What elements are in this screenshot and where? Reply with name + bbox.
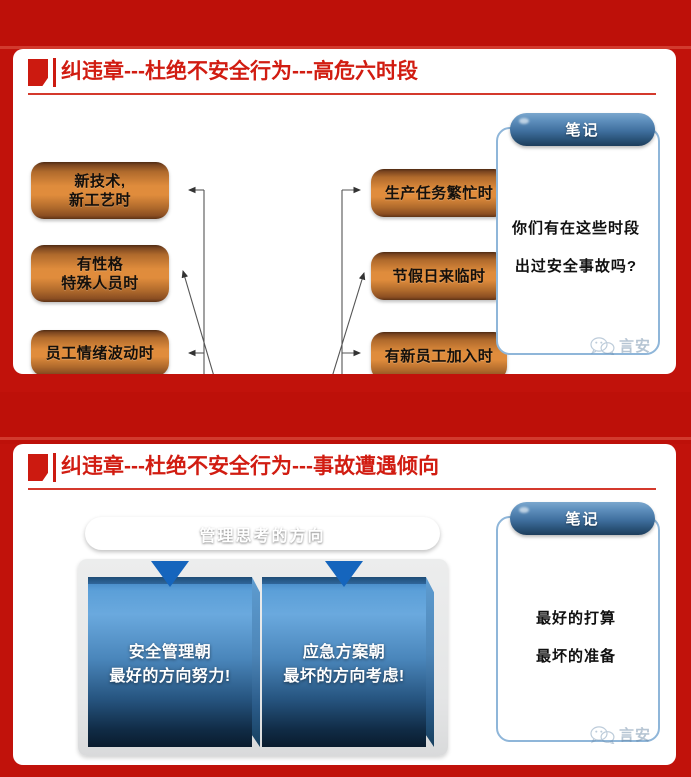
hazard-box-right-2[interactable]: 节假日来临时 [371,252,507,300]
note-tab-one-label: 笔记 [565,119,599,140]
hazard-box-right-3-label: 有新员工加入时 [385,347,494,366]
note-tab-gloss-icon [519,507,529,513]
bottom-red-band [0,765,691,777]
page-title: 纠违章---杜绝不安全行为---高危六时段 [61,56,418,88]
note-tab-two-label: 笔记 [565,508,599,529]
arrow-down-left-icon [151,561,189,587]
direction-panel-left[interactable]: 安全管理朝 最好的方向努力! [88,577,252,747]
slide-two-header: 纠违章---杜绝不安全行为---事故遭遇倾向 [13,444,676,490]
watermark-two-text: 言安 [619,724,651,745]
hazard-box-right-1-label: 生产任务繁忙时 [385,184,494,203]
direction-panel-left-line-1: 安全管理朝 [88,641,252,665]
hazard-box-right-2-label: 节假日来临时 [392,267,485,286]
watermark-two: 言安 [590,724,651,745]
wechat-icon [590,726,616,744]
management-direction-banner[interactable]: 管理思考的方向 [85,517,440,550]
note-body-two: 最好的打算 最坏的准备 [500,600,652,676]
top-red-band [0,0,691,49]
note-body-one: 你们有在这些时段 出过安全事故吗? [500,210,652,286]
hazard-box-left-2-label: 有性格特殊人员时 [61,255,139,293]
wechat-icon [590,337,616,355]
note-tab-two[interactable]: 笔记 [510,502,655,535]
arrow-down-right-icon [325,561,363,587]
panel-right-bevel [252,577,260,747]
flag-icon [28,59,48,86]
note-body-two-line-1: 最好的打算 [500,600,652,638]
note-body-one-line-2: 出过安全事故吗? [500,248,652,286]
hazard-box-left-3[interactable]: 员工情绪波动时 [31,330,169,374]
watermark-one-text: 言安 [619,335,651,356]
note-tab-gloss-icon [519,118,529,124]
note-tab-one[interactable]: 笔记 [510,113,655,146]
title-accent-bar [53,58,56,87]
panel-right-bevel [426,577,434,747]
direction-panel-left-text: 安全管理朝 最好的方向努力! [88,641,252,689]
watermark-one: 言安 [590,335,651,356]
direction-panel-right-text: 应急方案朝 最坏的方向考虑! [262,641,426,689]
title-underline [28,93,656,95]
note-body-one-line-1: 你们有在这些时段 [500,210,652,248]
hazard-box-right-3[interactable]: 有新员工加入时 [371,332,507,374]
page-title: 纠违章---杜绝不安全行为---事故遭遇倾向 [61,451,439,483]
slide-one-header: 纠违章---杜绝不安全行为---高危六时段 [13,49,676,95]
middle-band-hairline [0,437,691,440]
title-underline [28,488,656,490]
flag-icon [28,454,48,481]
hazard-box-left-2[interactable]: 有性格特殊人员时 [31,245,169,302]
direction-panel-right-line-1: 应急方案朝 [262,641,426,665]
direction-panel-right-line-2: 最坏的方向考虑! [262,665,426,689]
hazard-box-left-1-label: 新技术,新工艺时 [69,172,131,210]
hazard-box-left-3-label: 员工情绪波动时 [46,344,155,363]
poster-page: 纠违章---杜绝不安全行为---高危六时段 [0,0,691,777]
note-body-two-line-2: 最坏的准备 [500,638,652,676]
hazard-box-left-1[interactable]: 新技术,新工艺时 [31,162,169,219]
direction-panel-right[interactable]: 应急方案朝 最坏的方向考虑! [262,577,426,747]
hazard-box-right-1[interactable]: 生产任务繁忙时 [371,169,507,217]
direction-panel-left-line-2: 最好的方向努力! [88,665,252,689]
management-direction-banner-label: 管理思考的方向 [199,522,325,546]
title-accent-bar [53,453,56,482]
